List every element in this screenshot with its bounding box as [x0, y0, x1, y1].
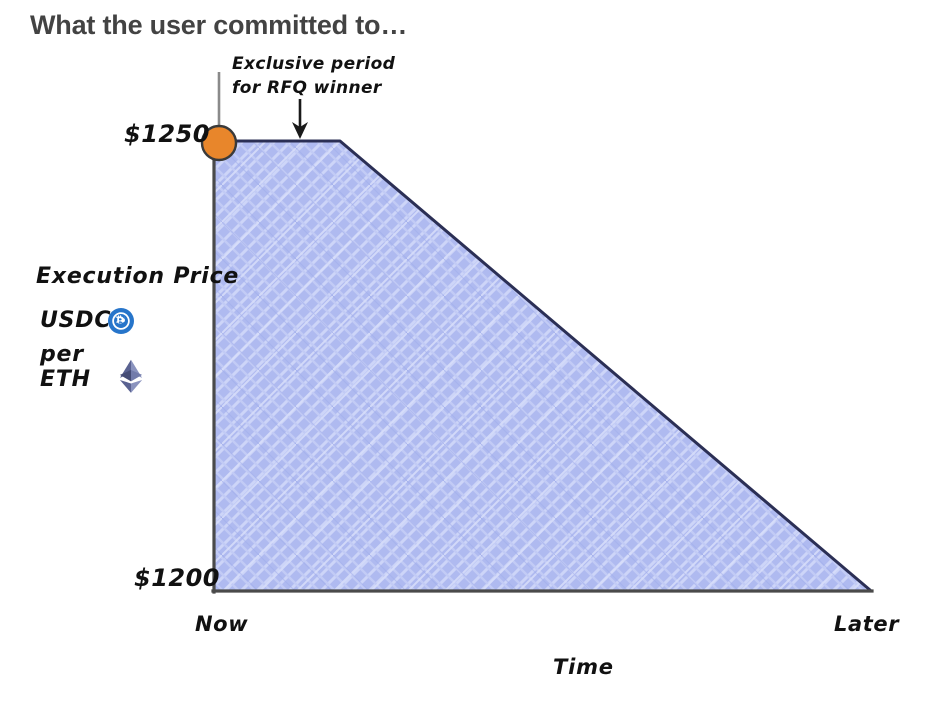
area-fill-group: [214, 142, 870, 590]
usdc-coin-icon: [108, 308, 134, 334]
exclusive-period-annotation: Exclusive period for RFQ winner: [232, 52, 395, 100]
slide-canvas: What the user committed to…: [0, 0, 944, 704]
execution-price-decay-chart: [0, 0, 944, 704]
price-area-fill-overlay: [214, 142, 870, 590]
y-axis-unit-numerator: USDC: [40, 308, 111, 333]
y-tick-label-bottom: $1200: [134, 564, 220, 592]
x-axis-title: Time: [553, 655, 614, 679]
y-axis-unit-separator: per: [40, 342, 84, 367]
down-arrow-icon: [292, 99, 308, 139]
y-axis-title: Execution Price: [36, 264, 239, 289]
y-axis-unit-denominator: ETH: [40, 367, 91, 392]
y-tick-label-top: $1250: [124, 120, 210, 148]
x-tick-label-now: Now: [195, 612, 248, 636]
ethereum-diamond-icon: [116, 359, 146, 395]
x-tick-label-later: Later: [834, 612, 899, 636]
